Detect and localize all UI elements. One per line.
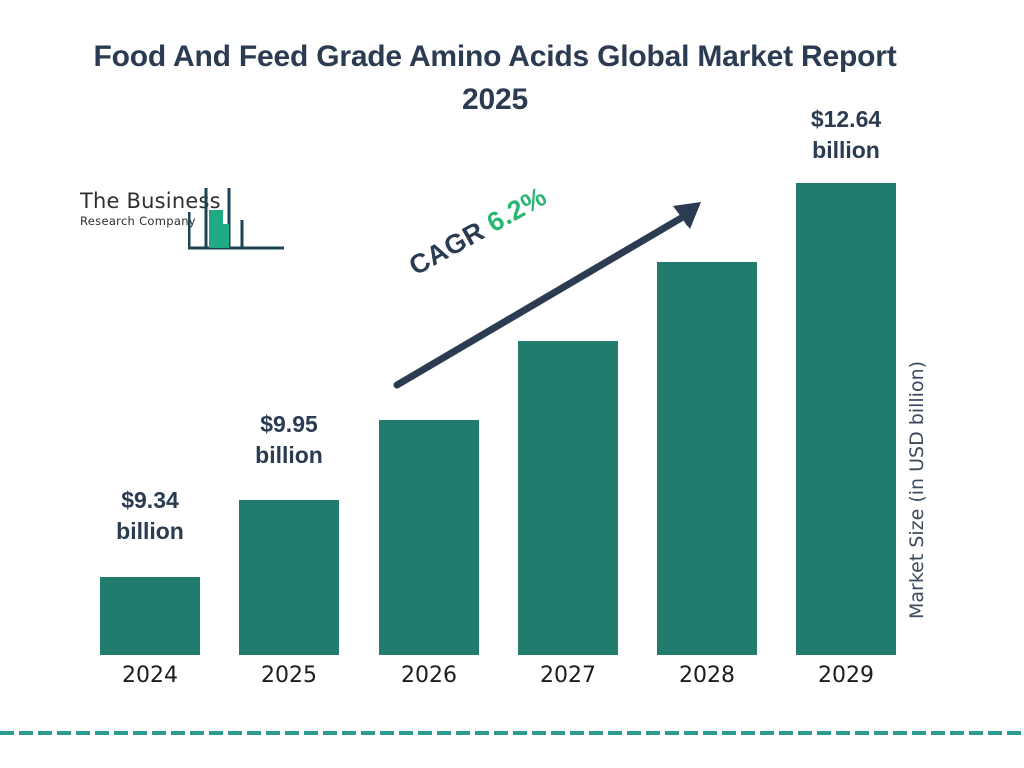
chart-canvas: Food And Feed Grade Amino Acids Global M… xyxy=(0,0,1024,768)
y-axis-title: Market Size (in USD billion) xyxy=(906,0,928,320)
cagr-trend-arrow-icon xyxy=(0,0,1024,768)
y-axis-title-text: Market Size (in USD billion) xyxy=(906,320,928,660)
footer-divider xyxy=(0,731,1024,735)
